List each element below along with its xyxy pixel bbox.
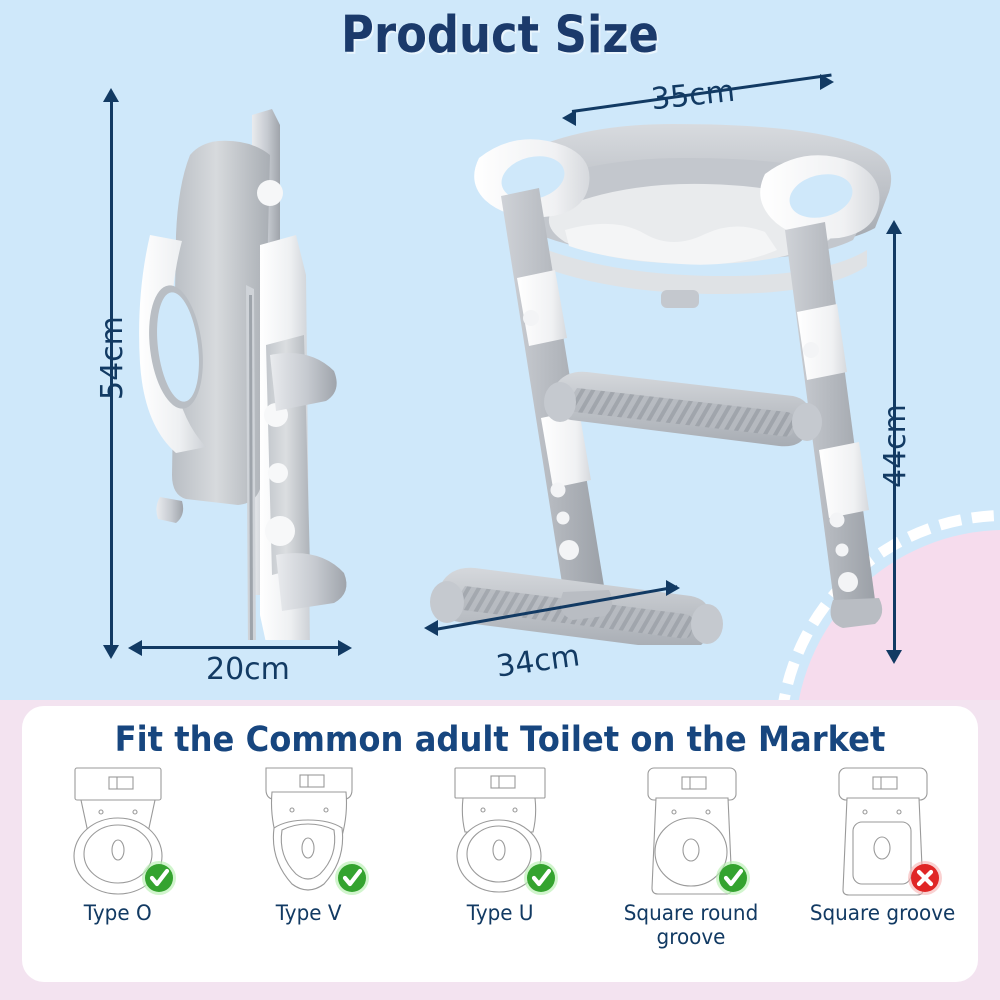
toilet-illustration-square-round <box>602 764 780 896</box>
toilet-illustration-square <box>793 764 971 896</box>
arrow-down-44cm <box>886 650 902 664</box>
toilet-illustration-round <box>29 764 207 896</box>
toilet-type-list: Type O <box>22 764 978 979</box>
arrow-up-44cm <box>886 220 902 234</box>
toilet-type-label: Type U <box>467 902 534 926</box>
arrow-right-34cm <box>666 580 680 596</box>
toilet-type-square-round-groove[interactable]: Square round groove <box>602 764 780 949</box>
toilet-type-u[interactable]: Type U <box>411 764 589 926</box>
dimension-label-54cm: 54cm <box>95 316 130 400</box>
toilet-type-square-groove[interactable]: Square groove <box>793 764 971 926</box>
check-badge-icon <box>716 861 750 895</box>
compatibility-heading: Fit the Common adult Toilet on the Marke… <box>60 720 940 760</box>
infographic-page: Product Size <box>0 0 1000 1000</box>
toilet-type-label: Type V <box>276 902 342 926</box>
toilet-type-label: Type O <box>84 902 152 926</box>
arrow-left-34cm <box>424 620 438 636</box>
toilet-illustration-v-taper <box>220 764 398 896</box>
product-image-folded <box>120 95 380 640</box>
arrow-down-54cm <box>103 645 119 659</box>
toilet-illustration-u-elongated <box>411 764 589 896</box>
arrow-up-54cm <box>103 88 119 102</box>
arrow-left-35cm <box>562 110 576 126</box>
compatibility-section: Fit the Common adult Toilet on the Marke… <box>22 706 978 982</box>
check-badge-icon <box>142 861 176 895</box>
arrow-right-35cm <box>820 74 834 90</box>
dimension-label-20cm: 20cm <box>206 652 290 687</box>
cross-badge-icon <box>908 861 942 895</box>
dimension-line-20cm <box>140 646 340 649</box>
toilet-type-o[interactable]: Type O <box>29 764 207 926</box>
dimension-label-44cm: 44cm <box>878 404 913 488</box>
check-badge-icon <box>524 861 558 895</box>
arrow-right-20cm <box>338 640 352 656</box>
toilet-type-label: Square round groove <box>607 902 776 949</box>
arrow-left-20cm <box>128 640 142 656</box>
dimension-label-34cm: 34cm <box>494 638 582 684</box>
check-badge-icon <box>335 861 369 895</box>
toilet-type-v[interactable]: Type V <box>220 764 398 926</box>
product-size-section: Product Size <box>0 0 1000 700</box>
page-title: Product Size <box>60 6 940 65</box>
toilet-type-label: Square groove <box>810 902 955 926</box>
product-image-assembled <box>405 100 915 645</box>
